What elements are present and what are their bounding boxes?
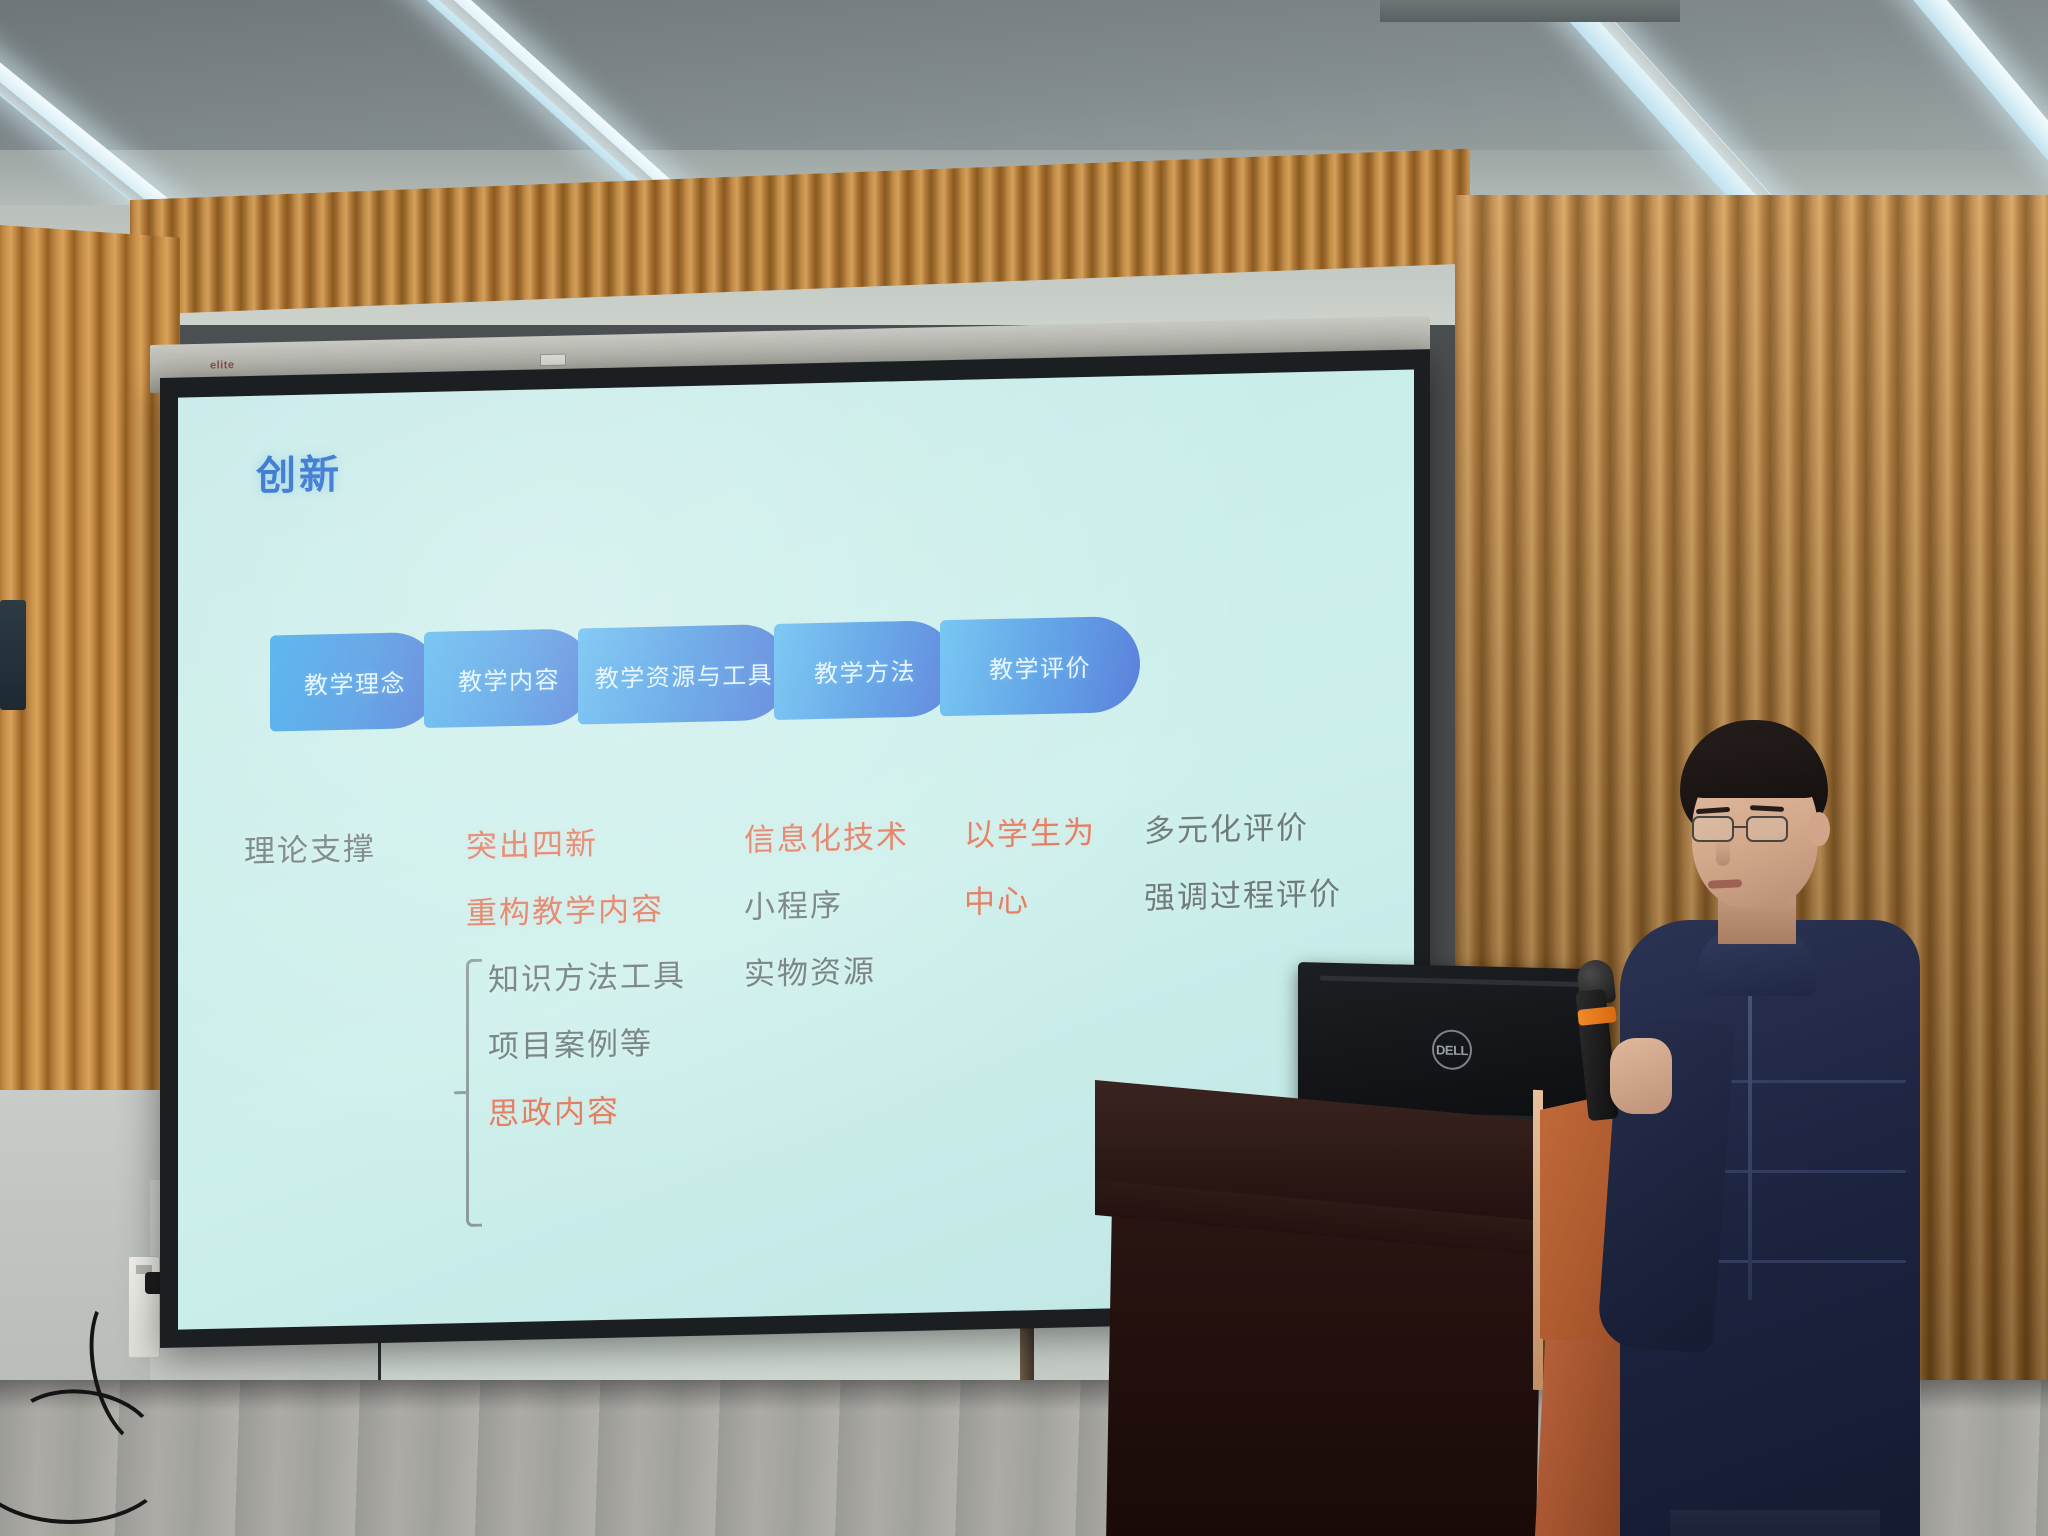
slide-title: 创新 bbox=[256, 442, 342, 502]
process-step-2[interactable]: 教学内容 bbox=[424, 628, 594, 728]
presenter-lower-body bbox=[1670, 1510, 1880, 1536]
process-step-5[interactable]: 教学评价 bbox=[940, 616, 1140, 717]
wall-mounted-device-left bbox=[0, 600, 26, 710]
column-4-item-2: 中心 bbox=[964, 882, 1154, 917]
process-step-3-label: 教学资源与工具 bbox=[589, 654, 780, 693]
photo-scene: elite 创新 教学理念 教学内容 教学资源与工具 教 bbox=[0, 0, 2048, 1536]
column-1-item-1: 理论支撑 bbox=[244, 831, 464, 867]
column-3-item-1: 信息化技术 bbox=[744, 820, 974, 856]
presenter bbox=[1600, 720, 1930, 1536]
presenter-hair-front bbox=[1684, 736, 1824, 798]
process-step-2-label: 教学内容 bbox=[452, 659, 566, 697]
screen-control-button[interactable] bbox=[540, 354, 566, 367]
column-3-item-3: 实物资源 bbox=[744, 954, 974, 990]
slide-column-1: 理论支撑 bbox=[244, 831, 464, 903]
ceiling-vent-strip bbox=[1380, 0, 1680, 22]
curly-brace-icon bbox=[466, 959, 482, 1227]
column-2-item-1: 突出四新 bbox=[466, 825, 736, 862]
brace-tick-icon bbox=[454, 1091, 468, 1094]
column-2-item-2: 重构教学内容 bbox=[466, 892, 736, 929]
process-step-4-label: 教学方法 bbox=[808, 651, 922, 689]
column-5-item-1: 多元化评价 bbox=[1144, 810, 1404, 847]
slide-column-3: 信息化技术 小程序 实物资源 bbox=[744, 820, 974, 1026]
process-step-3[interactable]: 教学资源与工具 bbox=[578, 624, 790, 725]
podium-body bbox=[1106, 1200, 1542, 1536]
presenter-ear bbox=[1808, 812, 1830, 846]
slide-columns: 理论支撑 突出四新 重构教学内容 知识方法工具 项目案例等 思政内容 bbox=[244, 810, 1394, 836]
presenter-nose bbox=[1716, 838, 1730, 866]
column-3-item-2: 小程序 bbox=[744, 887, 974, 923]
slide-column-4: 以学生为 中心 bbox=[964, 815, 1154, 953]
process-step-1[interactable]: 教学理念 bbox=[270, 632, 440, 732]
presenter-hand bbox=[1610, 1038, 1672, 1114]
column-2-braced-item-1: 知识方法工具 bbox=[488, 959, 736, 996]
process-step-4[interactable]: 教学方法 bbox=[774, 620, 956, 720]
slide-column-2: 突出四新 重构教学内容 知识方法工具 项目案例等 思政内容 bbox=[466, 825, 736, 1166]
process-step-5-label: 教学评价 bbox=[983, 647, 1097, 685]
glasses-lens-right-icon bbox=[1746, 816, 1788, 842]
column-2-braced-item-2: 项目案例等 bbox=[488, 1026, 736, 1063]
column-2-brace-group: 知识方法工具 项目案例等 思政内容 bbox=[466, 959, 736, 1130]
column-4-item-1: 以学生为 bbox=[964, 815, 1154, 850]
process-chevron-bar: 教学理念 教学内容 教学资源与工具 教学方法 教学评价 bbox=[270, 616, 1140, 732]
glasses-bridge-icon bbox=[1734, 826, 1748, 828]
jacket-zipper bbox=[1748, 970, 1752, 1300]
process-step-1-label: 教学理念 bbox=[298, 663, 412, 701]
column-2-braced-item-3: 思政内容 bbox=[488, 1093, 736, 1130]
laptop-hinge-strip bbox=[1320, 976, 1580, 987]
column-5-item-2: 强调过程评价 bbox=[1144, 877, 1404, 914]
dell-logo-icon: DELL bbox=[1432, 1030, 1472, 1071]
slide-column-5: 多元化评价 强调过程评价 bbox=[1144, 810, 1404, 950]
screen-brand-label: elite bbox=[210, 359, 235, 372]
microphone-orange-band bbox=[1577, 1006, 1616, 1026]
